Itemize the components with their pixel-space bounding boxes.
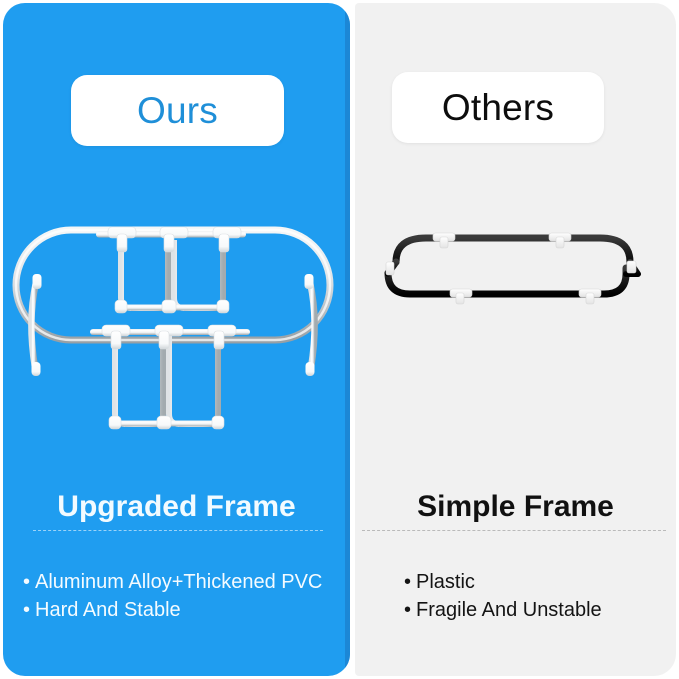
others-frame-illustration <box>368 218 664 418</box>
bullet-icon: • <box>404 599 411 621</box>
bullet-icon: • <box>23 599 30 621</box>
list-item-label: Hard And Stable <box>35 599 181 621</box>
bullet-icon: • <box>404 571 411 593</box>
list-item-label: Aluminum Alloy+Thickened PVC <box>35 571 322 593</box>
ours-divider <box>33 530 323 531</box>
ours-feature-list: •Aluminum Alloy+Thickened PVC •Hard And … <box>23 568 322 624</box>
others-section-title: Simple Frame <box>355 490 676 524</box>
list-item-label: Fragile And Unstable <box>416 599 602 621</box>
badge-ours-label: Ours <box>137 90 218 132</box>
list-item: •Fragile And Unstable <box>404 596 602 624</box>
list-item-label: Plastic <box>416 571 475 593</box>
badge-ours: Ours <box>71 75 284 146</box>
others-divider <box>362 530 666 531</box>
panel-ours: Ours <box>3 3 350 676</box>
list-item: •Plastic <box>404 568 602 596</box>
comparison-infographic: Ours <box>0 0 679 679</box>
bullet-icon: • <box>23 571 30 593</box>
panel-others: Others <box>355 3 676 676</box>
badge-others-label: Others <box>442 87 554 129</box>
list-item: •Aluminum Alloy+Thickened PVC <box>23 568 322 596</box>
ours-frame-illustration <box>8 218 338 448</box>
list-item: •Hard And Stable <box>23 596 322 624</box>
others-feature-list: •Plastic •Fragile And Unstable <box>404 568 602 624</box>
badge-others: Others <box>392 72 604 143</box>
ours-section-title: Upgraded Frame <box>3 490 350 524</box>
